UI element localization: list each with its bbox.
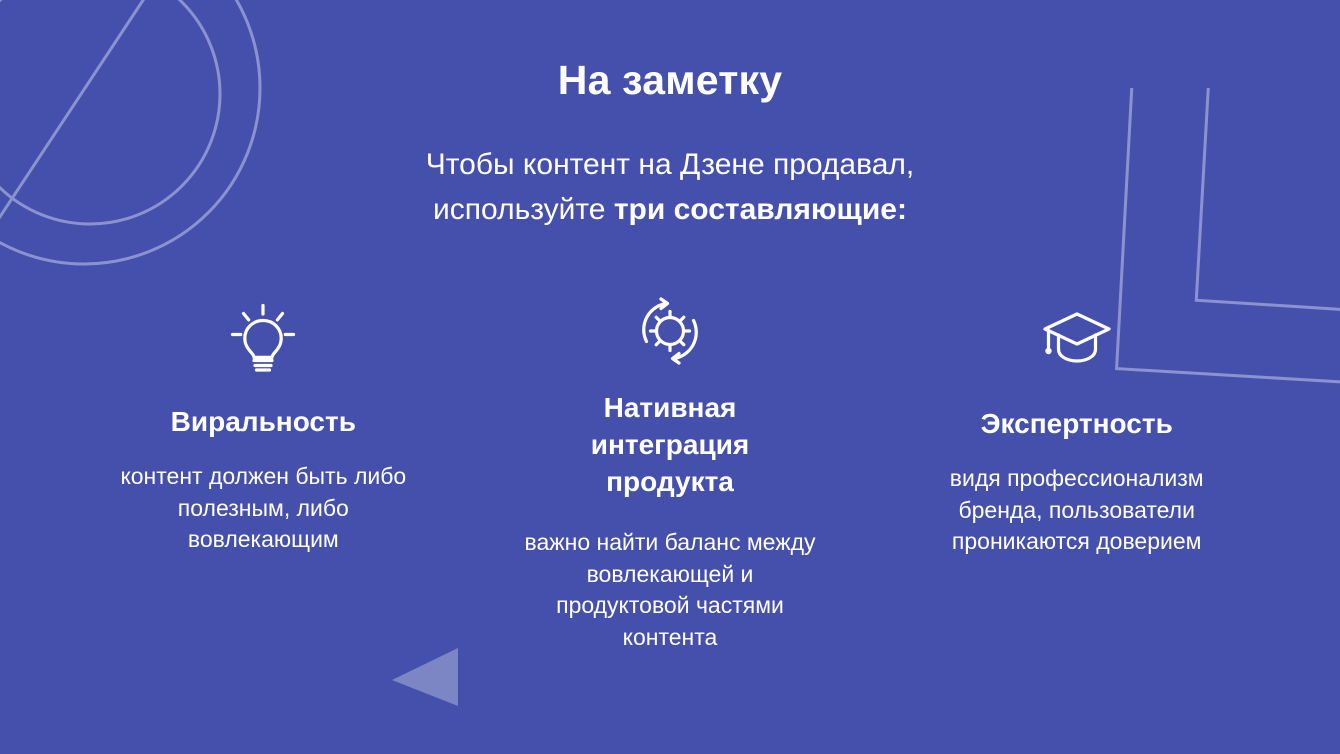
subtitle-line-2-regular: используйте — [433, 193, 614, 226]
lightbulb-icon — [230, 300, 296, 378]
feature-title-expertise: Экспертность — [981, 406, 1173, 443]
slide-canvas: На заметку Чтобы контент на Дзене продав… — [0, 0, 1340, 754]
page-title: На заметку — [0, 56, 1340, 105]
subtitle-line-1: Чтобы контент на Дзене продавал, — [426, 148, 914, 181]
graduation-cap-icon — [1041, 300, 1113, 378]
subtitle-line-2-bold: три составляющие: — [614, 193, 907, 226]
feature-title-virality: Виральность — [171, 404, 356, 441]
feature-column-virality: Виральность контент должен быть либо пол… — [60, 300, 467, 556]
slide-header: На заметку Чтобы контент на Дзене продав… — [0, 56, 1340, 232]
feature-column-expertise: Экспертность видя профессионализм бренда… — [873, 300, 1280, 558]
slide-subtitle: Чтобы контент на Дзене продавал, использ… — [0, 105, 1340, 232]
feature-body-virality: контент должен быть либо полезным, либо … — [113, 441, 413, 556]
feature-title-native-integration: Нативная интеграция продукта — [535, 390, 805, 501]
feature-column-native-integration: Нативная интеграция продукта важно найти… — [467, 292, 874, 654]
feature-body-native-integration: важно найти баланс между вовлекающей и п… — [520, 501, 820, 654]
feature-columns: Виральность контент должен быть либо пол… — [60, 300, 1280, 654]
feature-body-expertise: видя профессионализм бренда, пользовател… — [922, 443, 1232, 558]
gear-sync-icon — [634, 292, 706, 370]
